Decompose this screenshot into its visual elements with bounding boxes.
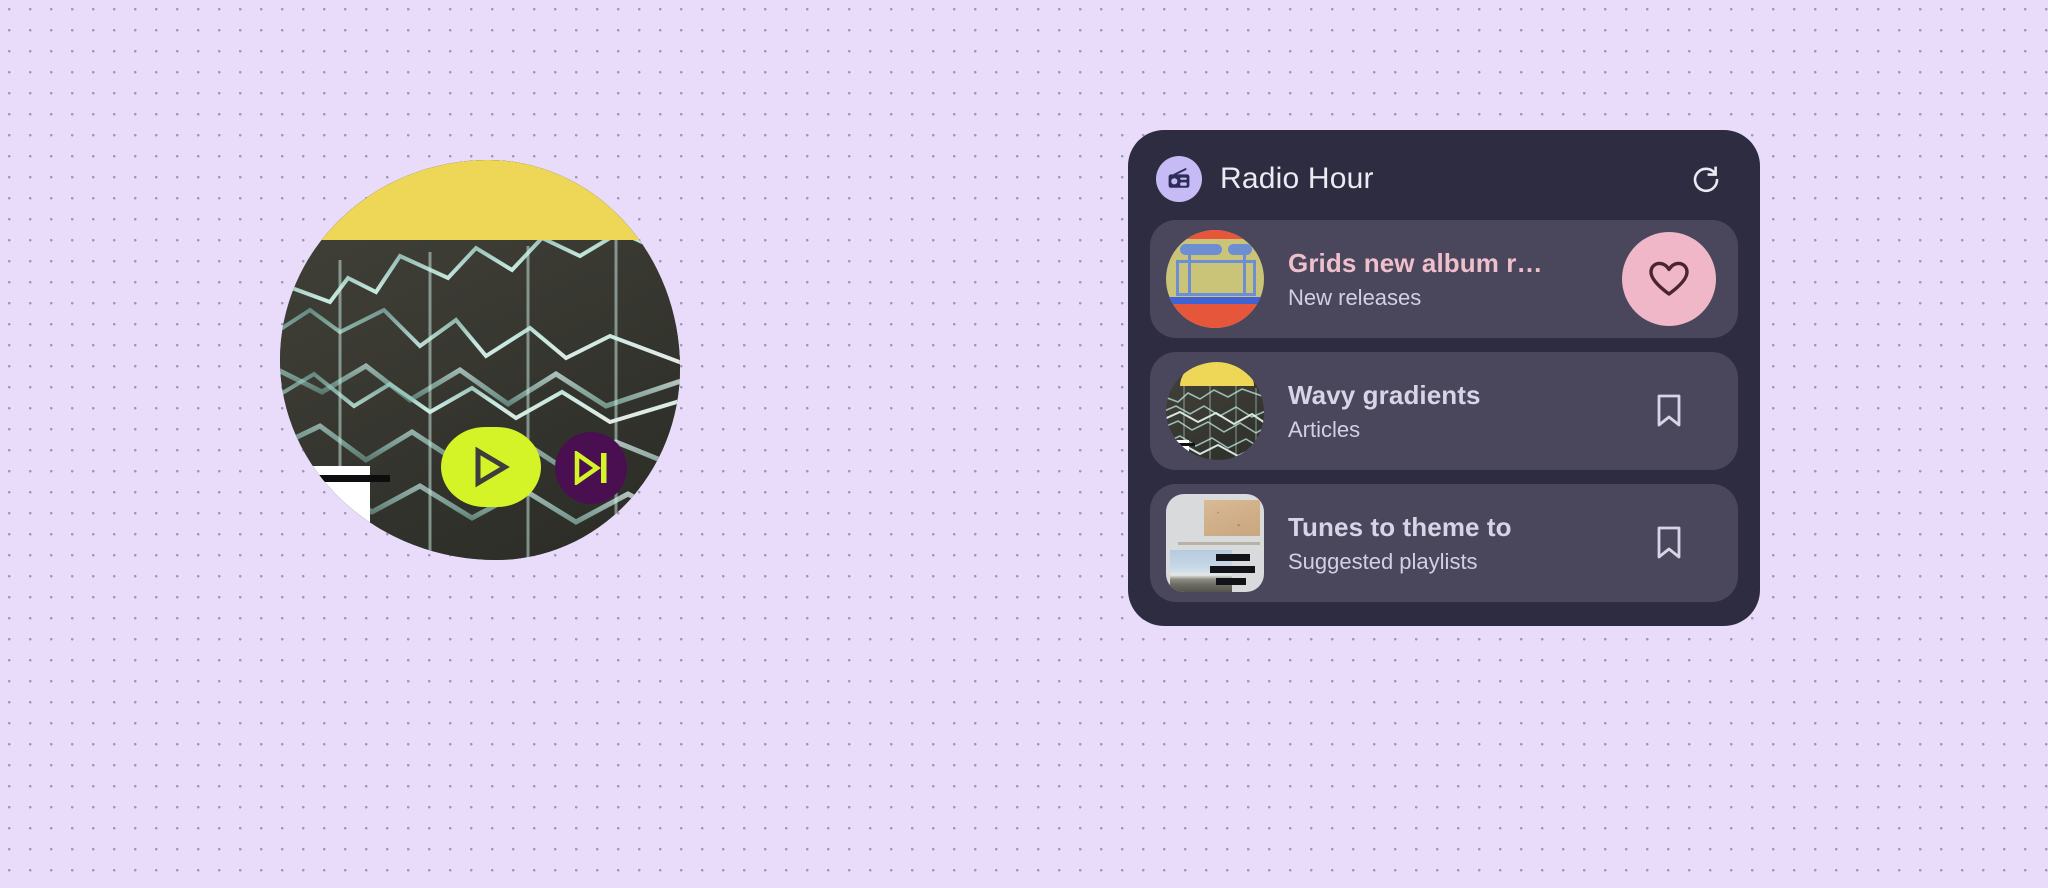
list-item-title: Grids new album r… [1288, 248, 1610, 279]
album-art-player [280, 160, 680, 560]
radio-hour-card: Radio Hour [1128, 130, 1760, 626]
grid-poster-thumbnail [1166, 230, 1264, 328]
list-item-subtitle: New releases [1288, 285, 1610, 311]
skip-next-icon [572, 451, 610, 485]
wavy-gradient-thumbnail [1166, 362, 1264, 460]
list-item-text: Grids new album r… New releases [1288, 248, 1610, 311]
page-title: Radio Hour [1220, 162, 1374, 196]
refresh-button[interactable] [1684, 157, 1728, 201]
list-item-text: Wavy gradients Articles [1288, 380, 1610, 443]
bookmark-button[interactable] [1639, 513, 1699, 573]
heart-icon [1648, 260, 1690, 298]
list-item[interactable]: Grids new album r… New releases [1150, 220, 1738, 338]
list-item[interactable]: Tunes to theme to Suggested playlists [1150, 484, 1738, 602]
list-item-title: Wavy gradients [1288, 380, 1610, 411]
play-button[interactable] [441, 427, 541, 507]
list-item-text: Tunes to theme to Suggested playlists [1288, 512, 1610, 575]
bookmark-icon [1653, 524, 1685, 562]
list-item-action [1622, 496, 1716, 590]
list-item-subtitle: Suggested playlists [1288, 549, 1610, 575]
app-badge [1156, 156, 1202, 202]
list-item-subtitle: Articles [1288, 417, 1610, 443]
bookmark-button[interactable] [1639, 381, 1699, 441]
play-icon [471, 446, 511, 488]
favorite-button[interactable] [1622, 232, 1716, 326]
feed-list: Grids new album r… New releases [1150, 220, 1738, 602]
next-button[interactable] [555, 432, 627, 504]
artwork-square-accent [292, 466, 370, 552]
list-item[interactable]: Wavy gradients Articles [1150, 352, 1738, 470]
radio-icon [1166, 166, 1192, 192]
card-header: Radio Hour [1150, 152, 1738, 206]
list-item-action [1622, 364, 1716, 458]
list-item-title: Tunes to theme to [1288, 512, 1610, 543]
list-item-action [1622, 232, 1716, 326]
beach-collage-thumbnail [1166, 494, 1264, 592]
bookmark-icon [1653, 392, 1685, 430]
refresh-icon [1689, 162, 1723, 196]
